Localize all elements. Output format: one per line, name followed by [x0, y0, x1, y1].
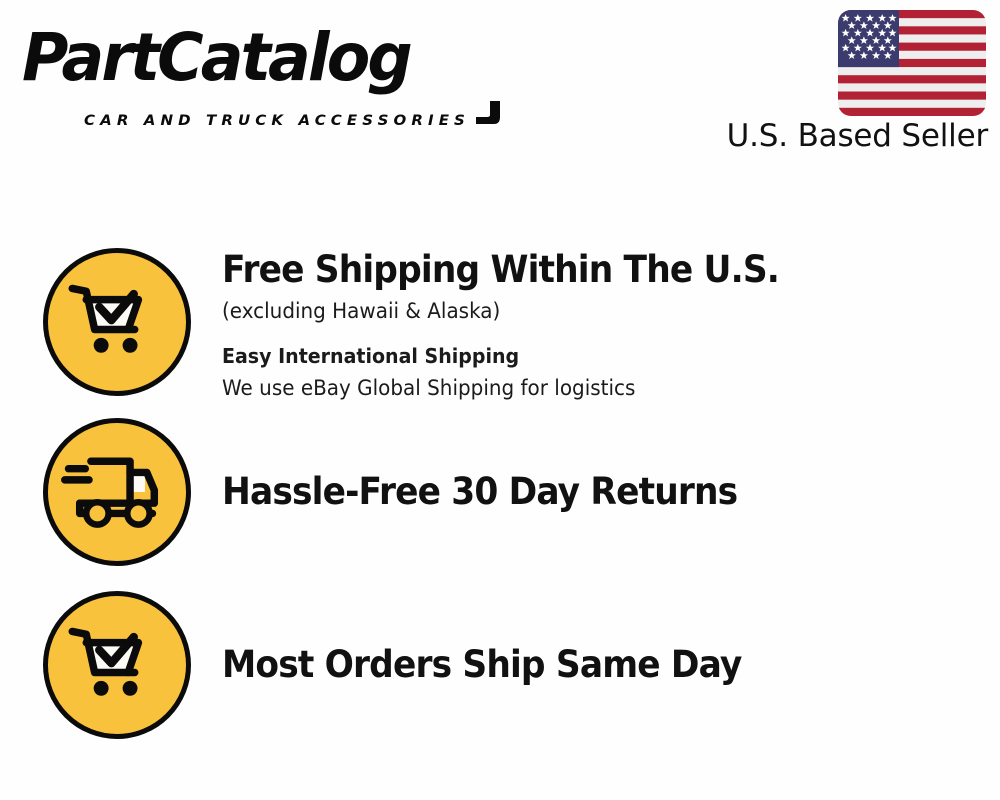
feature-row: Hassle-Free 30 Day Returns	[0, 418, 1000, 568]
feature-text-block: Free Shipping Within The U.S. (excluding…	[222, 248, 982, 404]
feature-subheading: Easy International Shipping	[222, 341, 944, 372]
us-based-seller-label: U.S. Based Seller	[727, 118, 988, 154]
feature-text-block: Hassle-Free 30 Day Returns	[222, 470, 982, 514]
feature-heading: Hassle-Free 30 Day Returns	[222, 470, 929, 514]
brand-wordmark: PartCatalog	[22, 22, 410, 94]
page-header: PartCatalog CAR AND TRUCK ACCESSORIES	[0, 0, 1000, 175]
feature-heading: Free Shipping Within The U.S.	[222, 248, 929, 292]
logo-swoosh-icon	[474, 100, 504, 126]
feature-heading: Most Orders Ship Same Day	[222, 643, 929, 687]
feature-subtext: We use eBay Global Shipping for logistic…	[222, 373, 944, 404]
us-flag-icon	[838, 10, 986, 116]
feature-row: Most Orders Ship Same Day	[0, 591, 1000, 741]
feature-row: Free Shipping Within The U.S. (excluding…	[0, 248, 1000, 398]
shopping-cart-check-icon	[43, 591, 191, 739]
shopping-cart-check-icon	[43, 248, 191, 396]
feature-text-block: Most Orders Ship Same Day	[222, 643, 982, 687]
brand-tagline: CAR AND TRUCK ACCESSORIES	[84, 112, 470, 129]
fast-delivery-truck-icon	[43, 418, 191, 566]
feature-subtext: (excluding Hawaii & Alaska)	[222, 296, 944, 327]
brand-logo: PartCatalog CAR AND TRUCK ACCESSORIES	[22, 22, 492, 117]
